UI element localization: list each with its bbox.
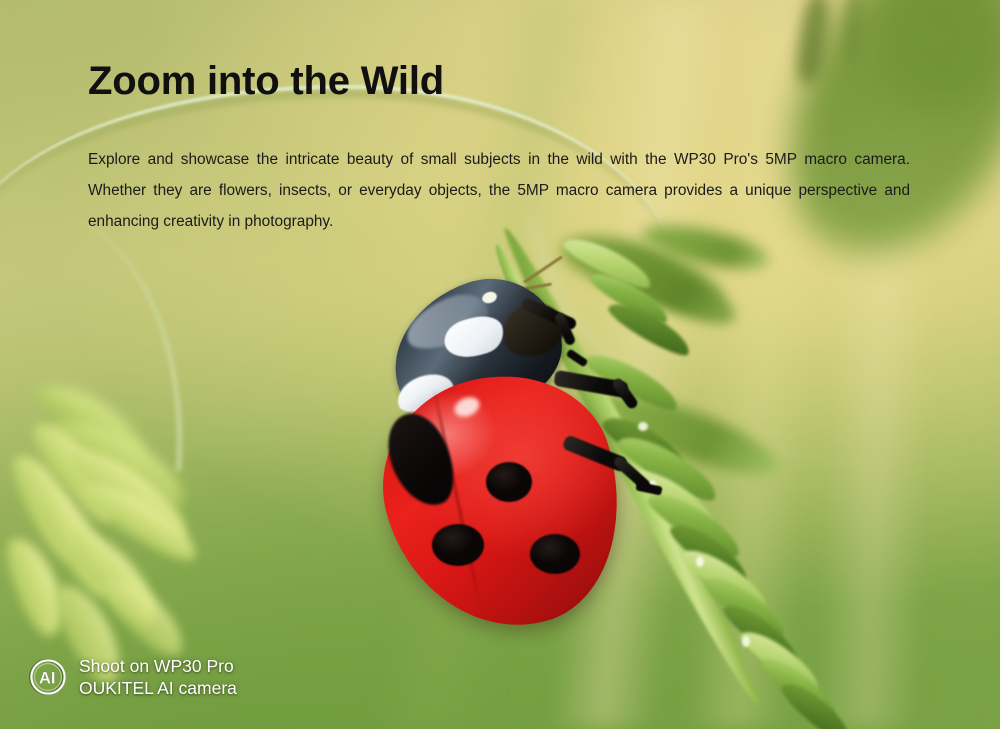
watermark-line-2: OUKITEL AI camera	[79, 677, 237, 699]
watermark-text: Shoot on WP30 Pro OUKITEL AI camera	[79, 655, 237, 699]
page-title: Zoom into the Wild	[88, 56, 916, 106]
banner-copy: Zoom into the Wild Explore and showcase …	[88, 56, 916, 237]
ladybug-front-foot	[566, 349, 589, 368]
ladybug-spot-3	[530, 534, 580, 574]
ai-circle-logo-icon: AI	[28, 657, 68, 697]
camera-watermark: AI Shoot on WP30 Pro OUKITEL AI camera	[28, 655, 237, 699]
product-feature-banner: Zoom into the Wild Explore and showcase …	[0, 0, 1000, 729]
ladybug-rear-foot	[635, 481, 662, 495]
ladybug-spot-2	[432, 524, 484, 566]
dew-drop-2	[696, 556, 704, 567]
ladybug-spot-1	[486, 462, 532, 502]
ai-logo-text: AI	[39, 669, 56, 687]
ladybug-icon	[370, 280, 670, 610]
dew-drop-3	[742, 636, 750, 647]
watermark-line-1: Shoot on WP30 Pro	[79, 655, 237, 677]
banner-description: Explore and showcase the intricate beaut…	[88, 106, 910, 237]
